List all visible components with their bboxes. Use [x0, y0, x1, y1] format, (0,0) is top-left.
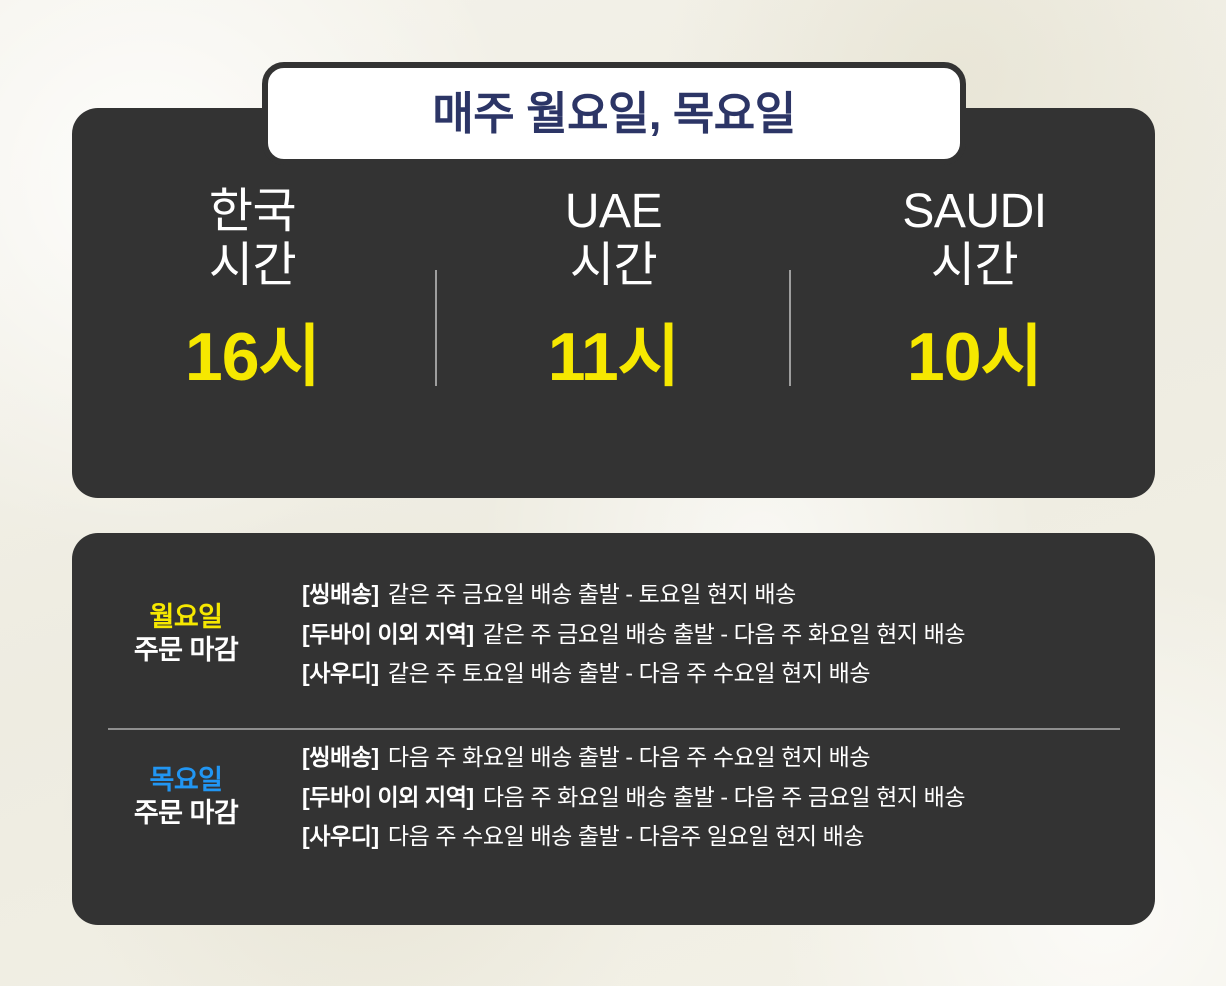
- timezone-unit-label: 시간: [931, 239, 1018, 293]
- timezone-region-label: SAUDI: [902, 185, 1046, 239]
- timezone-divider: [435, 270, 437, 386]
- schedule-panel: 월요일 주문 마감 [씽배송]같은 주 금요일 배송 출발 - 토요일 현지 배…: [72, 533, 1155, 925]
- schedule-line: [사우디]같은 주 토요일 배송 출발 - 다음 주 수요일 현지 배송: [302, 654, 1155, 694]
- timezone-row: 한국 시간 16시 UAE 시간 11시 SAUDI 시간 10시: [72, 185, 1155, 465]
- schedule-group-thursday: 목요일 주문 마감 [씽배송]다음 주 화요일 배송 출발 - 다음 주 수요일…: [72, 738, 1155, 857]
- timezone-region-label: UAE: [565, 185, 662, 239]
- schedule-line: [사우디]다음 주 수요일 배송 출발 - 다음주 일요일 현지 배송: [302, 817, 1155, 857]
- timezone-hour-value: 11시: [548, 323, 679, 391]
- timezone-column-korea: 한국 시간 16시: [72, 185, 433, 391]
- schedule-line-body: 같은 주 금요일 배송 출발 - 다음 주 화요일 현지 배송: [483, 621, 965, 647]
- timezone-hour-value: 10시: [907, 323, 1042, 391]
- schedule-line: [두바이 이외 지역]다음 주 화요일 배송 출발 - 다음 주 금요일 현지 …: [302, 778, 1155, 818]
- schedule-line-body: 다음 주 화요일 배송 출발 - 다음 주 금요일 현지 배송: [483, 784, 965, 810]
- schedule-cutoff-label: 주문 마감: [72, 797, 300, 830]
- schedule-line-list: [씽배송]다음 주 화요일 배송 출발 - 다음 주 수요일 현지 배송 [두바…: [300, 738, 1155, 857]
- schedule-line-tag: [두바이 이외 지역]: [302, 784, 474, 810]
- schedule-divider: [108, 728, 1120, 730]
- schedule-line-body: 같은 주 금요일 배송 출발 - 토요일 현지 배송: [388, 581, 796, 607]
- timezone-unit-label: 시간: [209, 239, 296, 293]
- timezone-divider: [789, 270, 791, 386]
- schedule-line-tag: [사우디]: [302, 823, 379, 849]
- title-pill: 매주 월요일, 목요일: [262, 62, 966, 165]
- timezone-column-saudi: SAUDI 시간 10시: [794, 185, 1155, 391]
- page-title: 매주 월요일, 목요일: [432, 91, 795, 136]
- schedule-line-body: 같은 주 토요일 배송 출발 - 다음 주 수요일 현지 배송: [388, 660, 870, 686]
- schedule-group-monday: 월요일 주문 마감 [씽배송]같은 주 금요일 배송 출발 - 토요일 현지 배…: [72, 575, 1155, 694]
- schedule-cutoff-label: 주문 마감: [72, 634, 300, 667]
- timezone-column-uae: UAE 시간 11시: [433, 185, 794, 391]
- schedule-line: [씽배송]같은 주 금요일 배송 출발 - 토요일 현지 배송: [302, 575, 1155, 615]
- timezone-hour-value: 16시: [185, 323, 320, 391]
- schedule-line-body: 다음 주 수요일 배송 출발 - 다음주 일요일 현지 배송: [388, 823, 864, 849]
- schedule-line: [씽배송]다음 주 화요일 배송 출발 - 다음 주 수요일 현지 배송: [302, 738, 1155, 778]
- schedule-line-tag: [사우디]: [302, 660, 379, 686]
- schedule-day-label: 목요일: [72, 764, 300, 797]
- schedule-line-tag: [씽배송]: [302, 744, 379, 770]
- schedule-line: [두바이 이외 지역]같은 주 금요일 배송 출발 - 다음 주 화요일 현지 …: [302, 615, 1155, 655]
- schedule-line-tag: [씽배송]: [302, 581, 379, 607]
- schedule-day-label: 월요일: [72, 601, 300, 634]
- schedule-line-body: 다음 주 화요일 배송 출발 - 다음 주 수요일 현지 배송: [388, 744, 870, 770]
- schedule-line-tag: [두바이 이외 지역]: [302, 621, 474, 647]
- timezone-unit-label: 시간: [570, 239, 657, 293]
- schedule-group-label: 목요일 주문 마감: [72, 764, 300, 831]
- schedule-line-list: [씽배송]같은 주 금요일 배송 출발 - 토요일 현지 배송 [두바이 이외 …: [300, 575, 1155, 694]
- schedule-group-label: 월요일 주문 마감: [72, 601, 300, 668]
- timezone-region-label: 한국: [209, 185, 296, 239]
